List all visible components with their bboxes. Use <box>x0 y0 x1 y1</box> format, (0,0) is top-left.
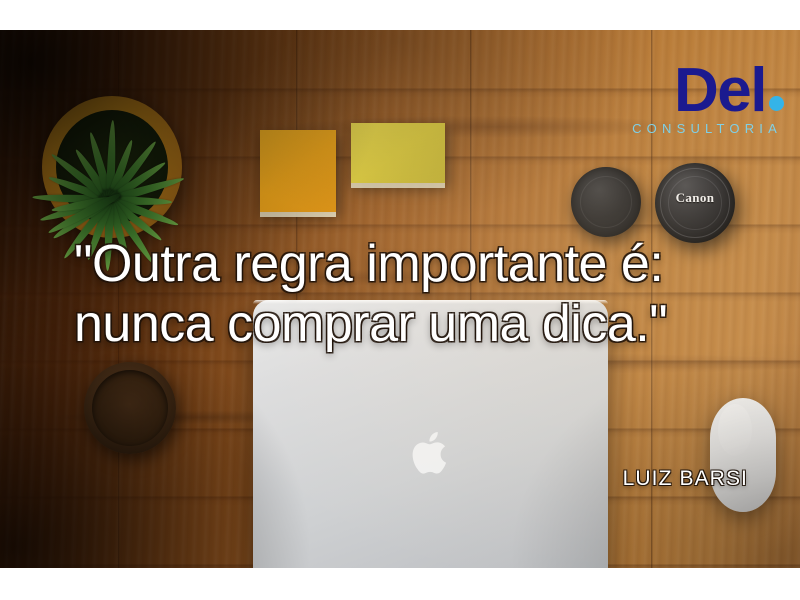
del-consultoria-logo: Del CONSULTORIA <box>632 62 784 136</box>
quote-card: Canon Del CONSULTORIA "Outra regra impor… <box>0 0 800 600</box>
logo-tagline: CONSULTORIA <box>632 121 784 136</box>
desk-photo: Canon Del CONSULTORIA "Outra regra impor… <box>0 30 800 568</box>
quote-text: "Outra regra importante é: nunca comprar… <box>74 234 774 355</box>
logo-wordmark-text: Del <box>674 56 766 125</box>
quote-author: LUIZ BARSI <box>0 467 748 491</box>
letterbox-top <box>0 0 800 30</box>
logo-dot-icon <box>769 96 784 111</box>
logo-wordmark: Del <box>632 62 784 119</box>
letterbox-bottom <box>0 568 800 600</box>
